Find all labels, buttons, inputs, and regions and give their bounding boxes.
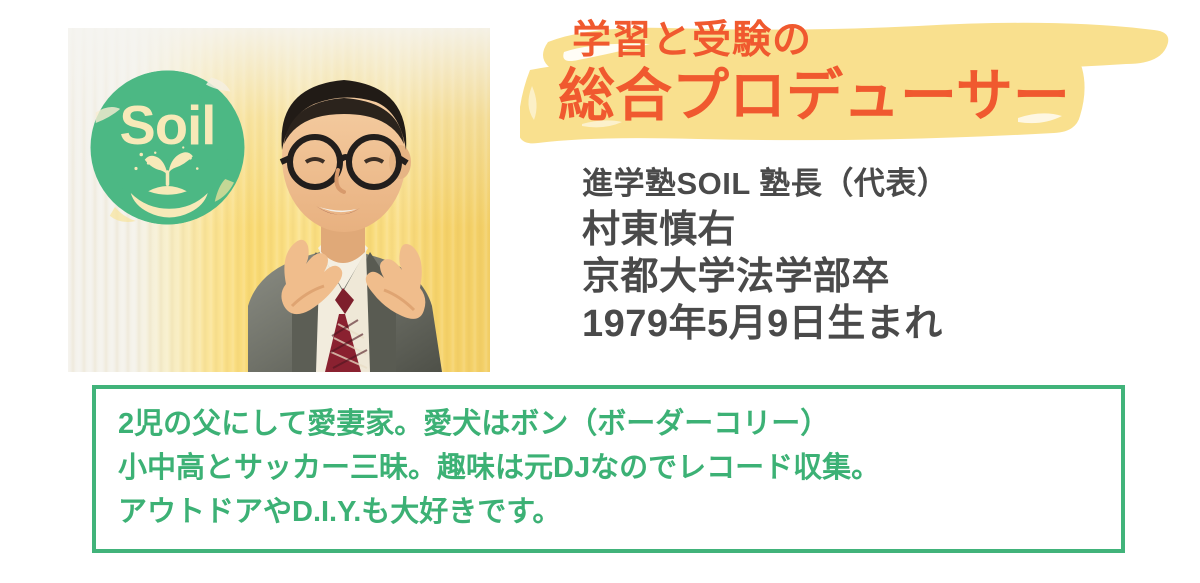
profile-name: 村東慎右 bbox=[582, 211, 948, 249]
personal-notes-line-1: 2児の父にして愛妻家。愛犬はボン（ボーダーコリー） bbox=[118, 402, 880, 446]
profile-photo: Soil bbox=[68, 28, 490, 372]
personal-notes-text: 2児の父にして愛妻家。愛犬はボン（ボーダーコリー） 小中高とサッカー三昧。趣味は… bbox=[118, 402, 880, 534]
personal-notes-line-2: 小中高とサッカー三昧。趣味は元DJなのでレコード収集。 bbox=[118, 446, 880, 490]
personal-notes-box: 2児の父にして愛妻家。愛犬はボン（ボーダーコリー） 小中高とサッカー三昧。趣味は… bbox=[92, 385, 1125, 553]
headline-text: 学習と受験の 総合プロデューサー bbox=[520, 8, 1180, 158]
person-portrait bbox=[188, 38, 490, 372]
profile-birthdate: 1979年5月9日生まれ bbox=[582, 305, 948, 343]
headline-block: 学習と受験の 総合プロデューサー bbox=[520, 8, 1180, 158]
profile-details: 進学塾SOIL 塾長（代表） 村東慎右 京都大学法学部卒 1979年5月9日生ま… bbox=[582, 168, 948, 343]
headline-large-line: 総合プロデューサー bbox=[558, 68, 1070, 125]
profile-role: 進学塾SOIL 塾長（代表） bbox=[582, 168, 948, 199]
headline-small-line: 学習と受験の bbox=[572, 21, 812, 60]
personal-notes-line-3: アウトドアやD.I.Y.も大好きです。 bbox=[118, 490, 880, 534]
head bbox=[281, 80, 411, 232]
profile-school: 京都大学法学部卒 bbox=[582, 258, 948, 296]
